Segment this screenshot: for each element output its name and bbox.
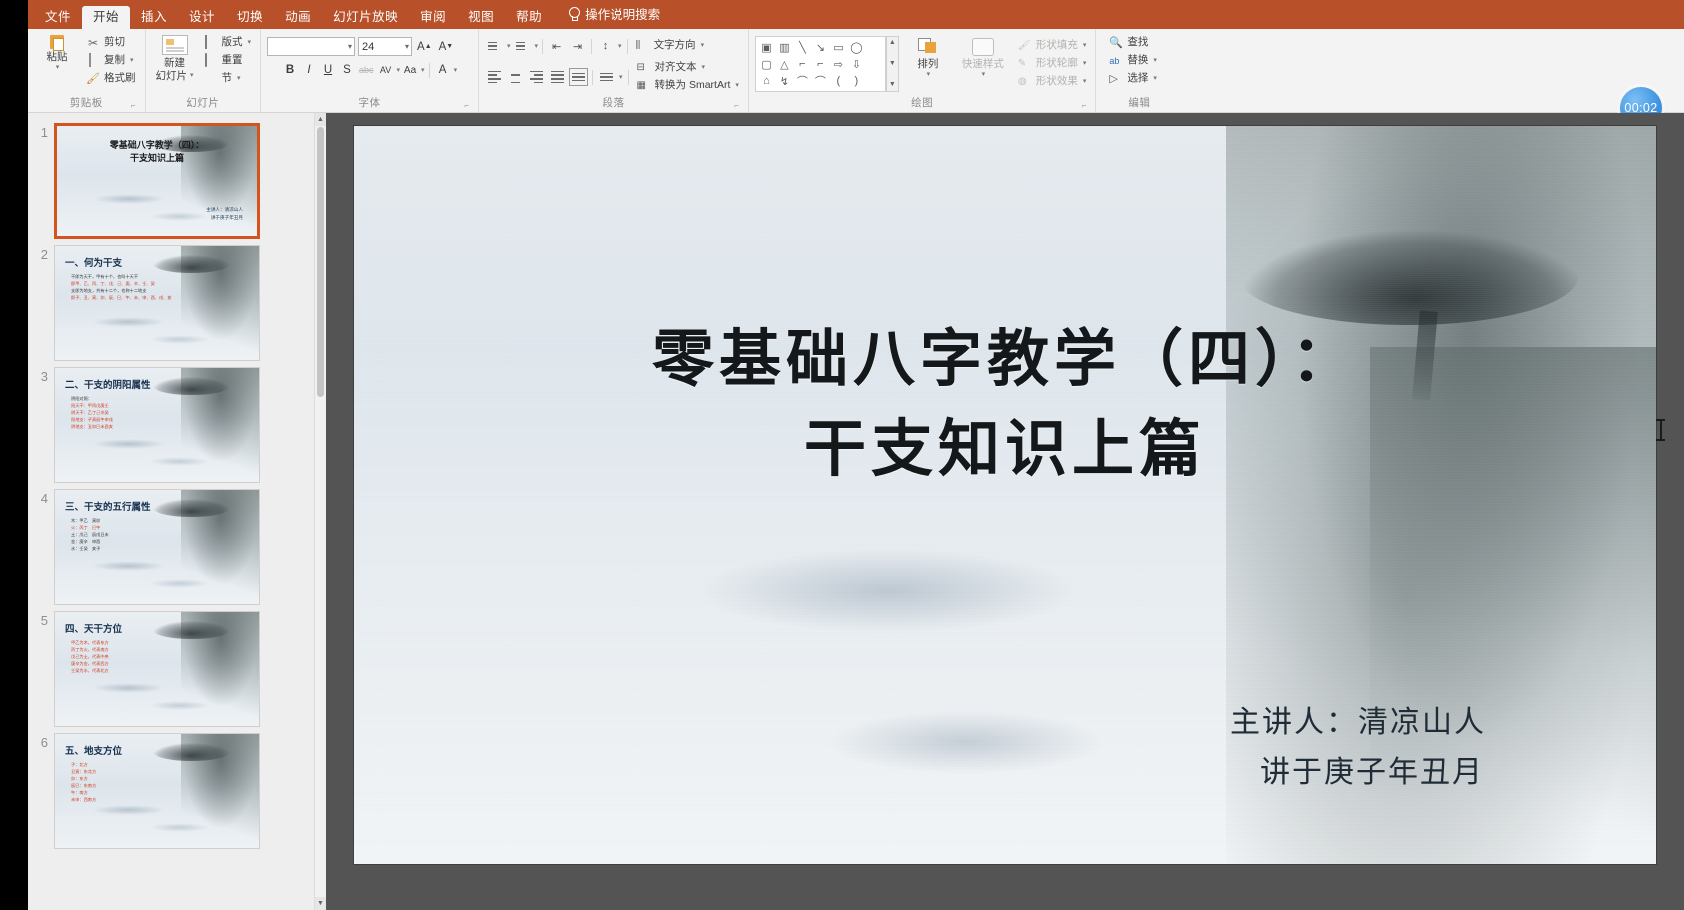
replace-button[interactable]: ab 替换 ▾	[1106, 53, 1160, 69]
thumbnail-slide-6[interactable]: 五、地支方位 子：北方 丑寅：东北方 卯：东方 辰巳：东南方 午：南方 未申：西…	[54, 733, 260, 849]
shape-effects-button[interactable]: ◍ 形状效果 ▾	[1015, 74, 1090, 90]
divider	[542, 39, 543, 54]
ribbon: 粘贴 ▾ ✂ 剪切 复制 ▾ �	[28, 29, 1684, 113]
slide-title[interactable]: 零基础八字教学（四）： 干支知识上篇	[354, 314, 1656, 494]
reset-label: 重置	[222, 54, 243, 68]
tell-me-label: 操作说明搜索	[585, 4, 660, 23]
chevron-down-icon: ▾	[1083, 77, 1087, 86]
increase-indent-button[interactable]: ⇥	[568, 37, 587, 55]
shape-fill-label: 形状填充	[1036, 39, 1078, 53]
thumbnail-number: 5	[32, 611, 54, 628]
ribbon-group-editing: 🔍 查找 ab 替换 ▾ ▷ 选择 ▾	[1096, 29, 1182, 112]
tab-transitions[interactable]: 切换	[226, 6, 274, 30]
thumbnail-heading: 三、干支的五行属性	[65, 499, 151, 513]
chevron-down-icon: ▾	[1153, 74, 1157, 83]
thumbnail-body: 干即为天干，甲有十个，也叫十天干 即甲、乙、丙、丁、戊、己、庚、辛、壬、癸 支即…	[71, 274, 201, 302]
tell-me-search[interactable]: 操作说明搜索	[567, 4, 660, 29]
justify-button[interactable]	[548, 68, 567, 86]
shape-effects-label: 形状效果	[1036, 75, 1078, 89]
find-button[interactable]: 🔍 查找	[1106, 35, 1160, 51]
shape-oval-icon[interactable]: ◯	[848, 39, 865, 55]
columns-button[interactable]	[597, 68, 616, 86]
tab-help[interactable]: 帮助	[505, 6, 553, 30]
new-slide-button[interactable]: 新建 幻灯片 ▾	[152, 33, 198, 83]
quick-styles-icon	[972, 38, 994, 56]
bulleted-list-button[interactable]	[485, 37, 504, 55]
find-label: 查找	[1127, 36, 1148, 50]
thumbnails-scrollbar[interactable]: ▲ ▼	[314, 113, 326, 910]
chevron-down-icon[interactable]: ▾	[397, 66, 401, 74]
list-item[interactable]: 4 三、干支的五行属性 木：甲乙 寅卯 火：丙丁 巳午 土：戊己 辰戌丑未	[28, 483, 314, 605]
thumbnail-heading: 二、干支的阴阳属性	[65, 377, 151, 391]
editing-group-label: 编辑	[1102, 95, 1176, 112]
section-icon	[204, 72, 218, 86]
thumbnail-number: 3	[32, 367, 54, 384]
align-text-label: 对齐文本	[655, 61, 697, 75]
paste-icon	[50, 35, 64, 49]
shape-arrow-icon[interactable]: ↘	[812, 39, 829, 55]
tab-view[interactable]: 视图	[457, 6, 505, 30]
align-left-button[interactable]	[485, 68, 504, 86]
scrollbar-thumb[interactable]	[317, 127, 324, 397]
scroll-down-icon[interactable]: ▼	[315, 897, 326, 910]
decrease-font-size-button[interactable]: A▼	[437, 38, 456, 56]
thumbnail-heading: 四、天干方位	[65, 621, 122, 635]
scissors-icon: ✂	[86, 36, 100, 50]
chevron-down-icon: ▾	[237, 74, 241, 83]
paintbrush-icon: 🖌	[86, 72, 100, 86]
shape-textbox-icon[interactable]: ▣	[758, 39, 775, 55]
shape-effects-icon: ◍	[1018, 75, 1032, 89]
shapes-gallery-scrollbar[interactable]: ▲ ▼ ▼	[886, 36, 899, 92]
current-slide[interactable]: 零基础八字教学（四）： 干支知识上篇 主讲人：清凉山人 讲于庚子年丑月	[354, 126, 1656, 864]
shape-curve-icon[interactable]: ⌒	[812, 73, 829, 89]
scroll-more-icon[interactable]: ▼	[887, 80, 898, 91]
chevron-down-icon: ▾	[702, 63, 706, 72]
thumbnail-slide-2[interactable]: 一、何为干支 干即为天干，甲有十个，也叫十天干 即甲、乙、丙、丁、戊、己、庚、辛…	[54, 245, 260, 361]
list-item[interactable]: 6 五、地支方位 子：北方 丑寅：东北方 卯：东方 辰巳：东	[28, 727, 314, 849]
tab-review[interactable]: 审阅	[409, 6, 457, 30]
thumbnail-number: 2	[32, 245, 54, 262]
dialog-launcher-icon[interactable]: ⌐	[1080, 102, 1088, 110]
change-case-button[interactable]: Aa	[401, 61, 419, 79]
shape-left-brace-icon[interactable]: (	[830, 73, 847, 89]
font-name-input[interactable]: ▾	[267, 37, 355, 56]
cut-label: 剪切	[104, 36, 125, 50]
chevron-down-icon: ▾	[701, 41, 705, 50]
arrange-label: 排列	[917, 58, 938, 71]
new-slide-label-1: 新建	[164, 57, 185, 70]
chevron-down-icon: ▾	[927, 71, 931, 80]
tab-design[interactable]: 设计	[178, 6, 226, 30]
chevron-down-icon: ▾	[1083, 41, 1087, 50]
chevron-down-icon: ▾	[735, 81, 739, 90]
lightbulb-icon	[567, 7, 580, 21]
shape-rectangle-icon[interactable]: ▭	[830, 39, 847, 55]
tab-insert[interactable]: 插入	[130, 6, 178, 30]
thumbnail-body: 甲乙为木，代表东方 丙丁为火，代表南方 戊己为土，代表中央 庚辛为金，代表西方 …	[71, 640, 201, 675]
convert-smartart-label: 转换为 SmartArt	[655, 79, 731, 93]
thumbnail-heading: 五、地支方位	[65, 743, 122, 757]
cut-button[interactable]: ✂ 剪切	[83, 35, 139, 51]
shape-triangle-icon[interactable]: △	[776, 56, 793, 72]
align-center-button[interactable]	[506, 68, 525, 86]
thumbnail-number: 6	[32, 733, 54, 750]
list-item[interactable]: 1 零基础八字教学（四）： 干支知识上篇 主讲人：清凉山人	[28, 117, 314, 239]
align-right-button[interactable]	[527, 68, 546, 86]
chevron-down-icon: ▾	[190, 72, 194, 81]
slide-thumbnails-pane[interactable]: 1 零基础八字教学（四）： 干支知识上篇 主讲人：清凉山人	[28, 113, 326, 910]
chevron-down-icon: ▾	[56, 64, 60, 73]
chevron-down-icon[interactable]: ▾	[405, 42, 409, 51]
replace-icon: ab	[1109, 54, 1123, 68]
chevron-down-icon[interactable]: ▾	[507, 42, 511, 50]
thumbnail-body: 阴阳对照： 阳天干：甲丙戊庚壬 阴天干：乙丁己辛癸 阳地支：子寅辰午申戌 阴地支…	[71, 396, 201, 431]
text-direction-button[interactable]: ⫼ 文字方向 ▾	[633, 38, 708, 54]
shape-gallery-icon[interactable]: ▥	[776, 39, 793, 55]
layout-icon	[204, 36, 218, 50]
work-area: 1 零基础八字教学（四）： 干支知识上篇 主讲人：清凉山人	[28, 113, 1684, 910]
paragraph-group-label: 段落 ⌐	[485, 95, 742, 112]
chevron-down-icon[interactable]: ▾	[618, 42, 622, 50]
distribute-button[interactable]	[569, 68, 588, 86]
dialog-launcher-icon[interactable]: ⌐	[733, 102, 741, 110]
numbered-list-button[interactable]	[513, 37, 532, 55]
chevron-down-icon[interactable]: ▾	[348, 42, 352, 51]
slide-title-line-2: 干支知识上篇	[354, 404, 1656, 494]
thumbnail-body: 子：北方 丑寅：东北方 卯：东方 辰巳：东南方 午：南方 未申：西南方	[71, 762, 201, 804]
thumbnail-heading: 一、何为干支	[65, 255, 122, 269]
arrange-button[interactable]: 排列 ▾	[905, 36, 951, 80]
shape-arc-icon[interactable]: ⌒	[794, 73, 811, 89]
shape-pentagon-icon[interactable]: ⌂	[758, 73, 775, 89]
quick-styles-button[interactable]: 快速样式 ▾	[957, 36, 1009, 80]
text-shadow-button[interactable]: S	[338, 61, 356, 79]
thumbnail-number: 1	[32, 123, 54, 140]
list-item[interactable]: 5 四、天干方位 甲乙为木，代表东方 丙丁为火，代表南方 戊己为土，代表中央	[28, 605, 314, 727]
paste-label: 粘贴	[47, 51, 68, 64]
format-painter-label: 格式刷	[104, 72, 136, 86]
shape-fill-button[interactable]: 🖌 形状填充 ▾	[1015, 38, 1090, 54]
font-size-input[interactable]: 24 ▾	[358, 37, 412, 56]
shape-fill-icon: 🖌	[1018, 39, 1032, 53]
thumbnail-title: 零基础八字教学（四）： 干支知识上篇	[57, 140, 257, 166]
shapes-gallery[interactable]: ▣ ▥ ╲ ↘ ▭ ◯ ▢ △ ⌐ ⌐ ⇨ ⇩	[755, 36, 886, 92]
thumbnail-body: 木：甲乙 寅卯 火：丙丁 巳午 土：戊己 辰戌丑未 金：庚辛 申酉 水：壬癸 亥…	[71, 518, 201, 553]
chevron-down-icon[interactable]: ▾	[619, 73, 623, 81]
shape-elbow2-icon[interactable]: ⌐	[812, 56, 829, 72]
new-slide-label-2: 幻灯片	[155, 70, 187, 83]
cursor-icon: ▷	[1109, 72, 1123, 86]
layout-label: 版式	[222, 36, 243, 50]
ribbon-group-clipboard: 粘贴 ▾ ✂ 剪切 复制 ▾ �	[28, 29, 146, 112]
italic-button[interactable]: I	[300, 61, 318, 79]
slide-subtitle-line-1: 主讲人：清凉山人	[1230, 698, 1486, 748]
slide-subtitle-line-2: 讲于庚子年丑月	[1230, 748, 1486, 798]
thumbnail-number: 4	[32, 489, 54, 506]
section-button[interactable]: 节 ▾	[201, 71, 255, 87]
increase-font-size-button[interactable]: A▲	[415, 38, 434, 56]
shape-blank-icon	[866, 39, 883, 55]
shape-blank-icon	[866, 73, 883, 89]
tab-home[interactable]: 开始	[82, 6, 130, 30]
divider	[591, 39, 592, 54]
reset-button[interactable]: 重置	[201, 53, 255, 69]
shape-outline-icon: ✎	[1018, 57, 1032, 71]
dialog-launcher-icon[interactable]: ⌐	[130, 102, 138, 110]
shape-down-arrow-icon[interactable]: ⇩	[848, 56, 865, 72]
underline-button[interactable]: U	[319, 61, 337, 79]
app-frame: 文件 开始 插入 设计 切换 动画 幻灯片放映 审阅 视图 帮助 操作说明搜索	[28, 0, 1684, 910]
replace-label: 替换	[1127, 54, 1148, 68]
ribbon-group-drawing: ▣ ▥ ╲ ↘ ▭ ◯ ▢ △ ⌐ ⌐ ⇨ ⇩	[749, 29, 1097, 112]
font-size-value: 24	[362, 41, 374, 53]
shape-outline-button[interactable]: ✎ 形状轮廓 ▾	[1015, 56, 1090, 72]
align-text-button[interactable]: ⊟ 对齐文本 ▾	[634, 60, 742, 76]
shape-rounded-rect-icon[interactable]: ▢	[758, 56, 775, 72]
thumbnail-slide-4[interactable]: 三、干支的五行属性 木：甲乙 寅卯 火：丙丁 巳午 土：戊己 辰戌丑未 金：庚辛…	[54, 489, 260, 605]
decrease-indent-button[interactable]: ⇤	[547, 37, 566, 55]
text-direction-icon: ⫼	[636, 39, 650, 53]
align-text-icon: ⊟	[637, 61, 651, 75]
shape-blank-icon	[866, 56, 883, 72]
ribbon-group-slides: 新建 幻灯片 ▾ 版式 ▾	[146, 29, 262, 112]
chevron-down-icon[interactable]: ▾	[421, 66, 425, 74]
slide-title-line-1: 零基础八字教学（四）：	[354, 314, 1656, 404]
shape-right-brace-icon[interactable]: )	[848, 73, 865, 89]
paste-button[interactable]: 粘贴 ▾	[34, 33, 80, 73]
slide-canvas-pane[interactable]: 零基础八字教学（四）： 干支知识上篇 主讲人：清凉山人 讲于庚子年丑月	[326, 113, 1684, 910]
ribbon-group-font: ▾ 24 ▾ A▲ A▼ B	[261, 29, 479, 112]
convert-to-smartart-button[interactable]: ▦ 转换为 SmartArt ▾	[634, 78, 742, 94]
clipboard-group-label: 剪贴板 ⌐	[34, 95, 139, 112]
slide-subtitle[interactable]: 主讲人：清凉山人 讲于庚子年丑月	[1230, 698, 1486, 797]
select-label: 选择	[1127, 72, 1148, 86]
divider	[628, 70, 629, 85]
thumbnail-subtitle: 主讲人：清凉山人 讲于庚子年丑月	[206, 206, 243, 222]
copy-button[interactable]: 复制 ▾	[83, 53, 139, 69]
select-button[interactable]: ▷ 选择 ▾	[1106, 71, 1160, 87]
chevron-down-icon: ▾	[130, 56, 134, 65]
scroll-up-icon[interactable]: ▲	[315, 113, 326, 126]
divider	[592, 70, 593, 85]
powerpoint-window: 文件 开始 插入 设计 切换 动画 幻灯片放映 审阅 视图 帮助 操作说明搜索	[0, 0, 1684, 910]
text-direction-label: 文字方向	[654, 39, 696, 53]
text-cursor-icon	[1656, 419, 1665, 441]
scroll-down-icon[interactable]: ▼	[887, 59, 898, 70]
thumbnails-list: 1 零基础八字教学（四）： 干支知识上篇 主讲人：清凉山人	[28, 113, 314, 910]
shape-elbow-icon[interactable]: ⌐	[794, 56, 811, 72]
font-group-label: 字体 ⌐	[267, 95, 472, 112]
chevron-down-icon: ▾	[1153, 56, 1157, 65]
chevron-down-icon[interactable]: ▾	[535, 42, 539, 50]
shape-outline-label: 形状轮廓	[1036, 57, 1078, 71]
shape-lightning-icon[interactable]: ↯	[776, 73, 793, 89]
search-icon: 🔍	[1109, 36, 1123, 50]
list-item[interactable]: 2 一、何为干支 干即为天干，甲有十个，也叫十天干 即甲、乙、丙、丁、戊、己、庚…	[28, 239, 314, 361]
ribbon-group-paragraph: ▾ ▾ ⇤ ⇥ ↕ ▾ ⫼ 文字方向	[479, 29, 749, 112]
dialog-launcher-icon[interactable]: ⌐	[463, 102, 471, 110]
format-painter-button[interactable]: 🖌 格式刷	[83, 71, 139, 87]
bold-button[interactable]: B	[281, 61, 299, 79]
chevron-down-icon: ▾	[248, 38, 252, 47]
chevron-down-icon: ▾	[1083, 59, 1087, 68]
scroll-up-icon[interactable]: ▲	[887, 38, 898, 49]
tab-file[interactable]: 文件	[34, 6, 82, 30]
copy-label: 复制	[104, 54, 125, 68]
section-label: 节	[222, 72, 233, 86]
tab-slideshow[interactable]: 幻灯片放映	[322, 6, 409, 30]
arrange-icon	[918, 38, 938, 56]
chevron-down-icon: ▾	[982, 71, 986, 80]
shape-right-arrow-icon[interactable]: ⇨	[830, 56, 847, 72]
divider	[627, 39, 628, 54]
quick-styles-label: 快速样式	[962, 58, 1004, 71]
line-spacing-button[interactable]: ↕	[596, 37, 615, 55]
tab-animations[interactable]: 动画	[274, 6, 322, 30]
shape-line-icon[interactable]: ╲	[794, 39, 811, 55]
slides-group-label: 幻灯片	[152, 95, 255, 112]
reset-icon	[204, 54, 218, 68]
strikethrough-button[interactable]: abc	[357, 61, 376, 79]
thumbnail-slide-3[interactable]: 二、干支的阴阳属性 阴阳对照： 阳天干：甲丙戊庚壬 阴天干：乙丁己辛癸 阳地支：…	[54, 367, 260, 483]
ribbon-tab-bar: 文件 开始 插入 设计 切换 动画 幻灯片放映 审阅 视图 帮助 操作说明搜索	[28, 0, 1684, 29]
layout-button[interactable]: 版式 ▾	[201, 35, 255, 51]
drawing-group-label: 绘图 ⌐	[755, 95, 1090, 112]
character-spacing-button[interactable]: AV	[377, 61, 395, 79]
list-item[interactable]: 3 二、干支的阴阳属性 阴阳对照： 阳天干：甲丙戊庚壬 阴天干：乙丁己辛癸	[28, 361, 314, 483]
copy-icon	[86, 54, 100, 68]
font-color-button[interactable]: A	[434, 61, 452, 79]
thumbnail-slide-1[interactable]: 零基础八字教学（四）： 干支知识上篇 主讲人：清凉山人 讲于庚子年丑月	[54, 123, 260, 239]
divider	[429, 63, 430, 78]
smartart-icon: ▦	[637, 79, 651, 93]
chevron-down-icon[interactable]: ▾	[454, 66, 458, 74]
thumbnail-slide-5[interactable]: 四、天干方位 甲乙为木，代表东方 丙丁为火，代表南方 戊己为土，代表中央 庚辛为…	[54, 611, 260, 727]
new-slide-icon	[162, 35, 188, 55]
